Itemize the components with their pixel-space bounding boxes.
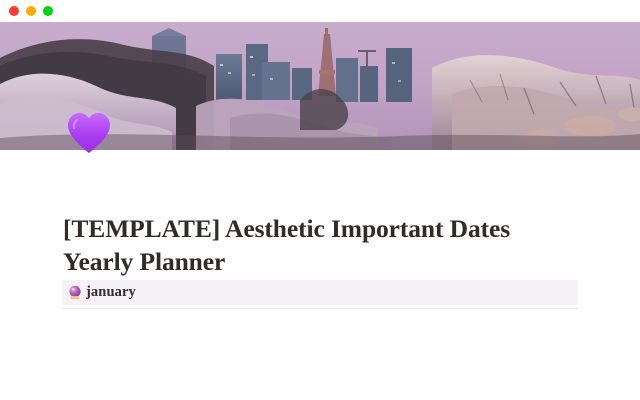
window-titlebar: [0, 0, 640, 22]
app-window: [TEMPLATE] Aesthetic Important Dates Yea…: [0, 0, 640, 400]
page-icon-purple-heart[interactable]: [65, 110, 113, 154]
minimize-window-button[interactable]: [26, 6, 36, 16]
month-divider: [62, 308, 578, 309]
crystal-ball-icon: [68, 285, 82, 300]
purple-heart-icon: [65, 110, 113, 154]
month-heading-january[interactable]: january: [62, 280, 578, 305]
maximize-window-button[interactable]: [43, 6, 53, 16]
month-label: january: [86, 284, 136, 301]
close-window-button[interactable]: [9, 6, 19, 16]
page-title[interactable]: [TEMPLATE] Aesthetic Important Dates Yea…: [63, 213, 563, 278]
